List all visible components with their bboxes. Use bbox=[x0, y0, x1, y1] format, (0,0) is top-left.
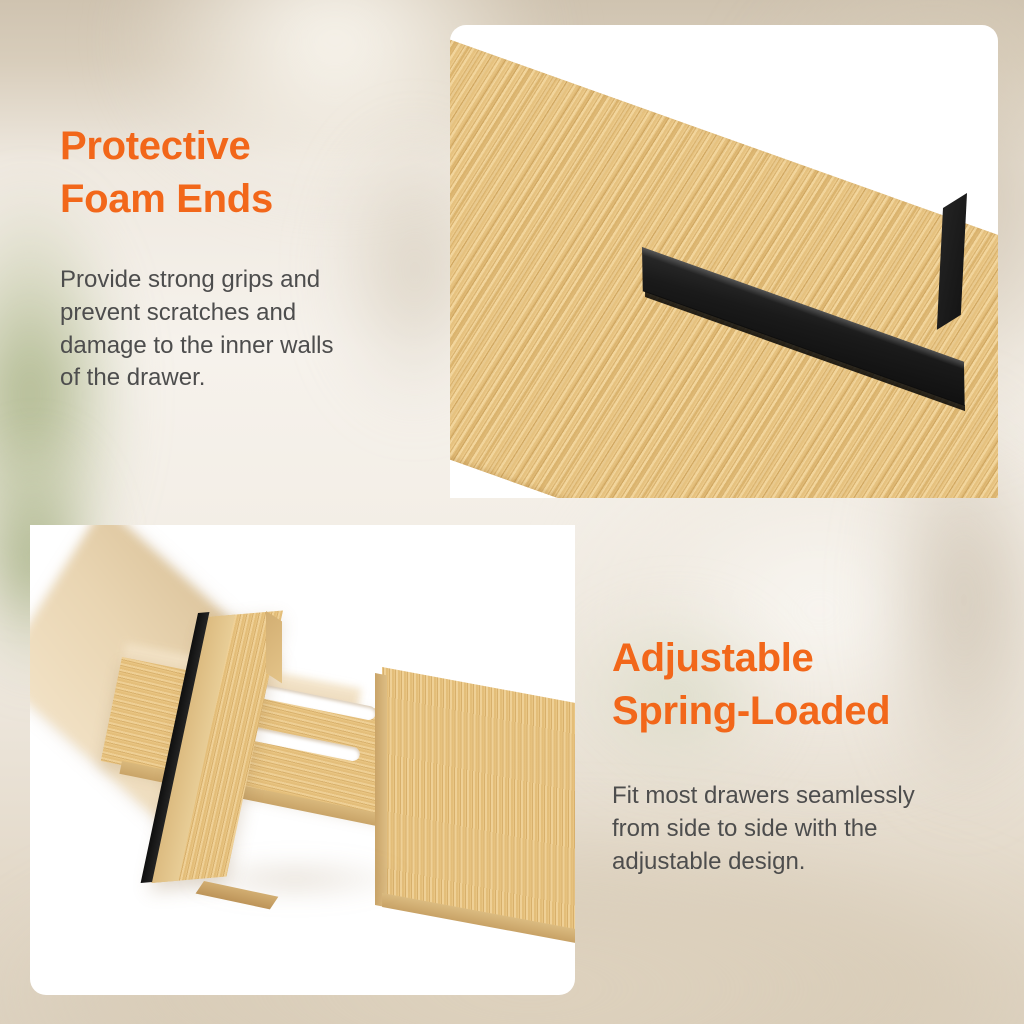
feature-photo-panel-spring-loaded bbox=[30, 525, 575, 995]
feature-body-foam-ends: Provide strong grips and prevent scratch… bbox=[60, 264, 420, 395]
feature-photo-panel-foam-ends bbox=[450, 25, 998, 498]
product-infographic: Protective Foam Ends Provide strong grip… bbox=[0, 0, 1024, 1024]
feature-text-foam-ends: Protective Foam Ends Provide strong grip… bbox=[60, 120, 420, 395]
cross-piece-top-cap bbox=[266, 611, 282, 683]
board-top-surface bbox=[450, 25, 998, 498]
feature-text-spring-loaded: Adjustable Spring-Loaded Fit most drawer… bbox=[612, 632, 992, 878]
feature-headline-foam-ends: Protective Foam Ends bbox=[60, 120, 420, 226]
feature-body-spring-loaded: Fit most drawers seamlessly from side to… bbox=[612, 780, 992, 878]
bamboo-board-illustration bbox=[450, 25, 998, 498]
feature-headline-spring-loaded: Adjustable Spring-Loaded bbox=[612, 632, 992, 738]
drawer-divider-illustration bbox=[30, 525, 575, 995]
